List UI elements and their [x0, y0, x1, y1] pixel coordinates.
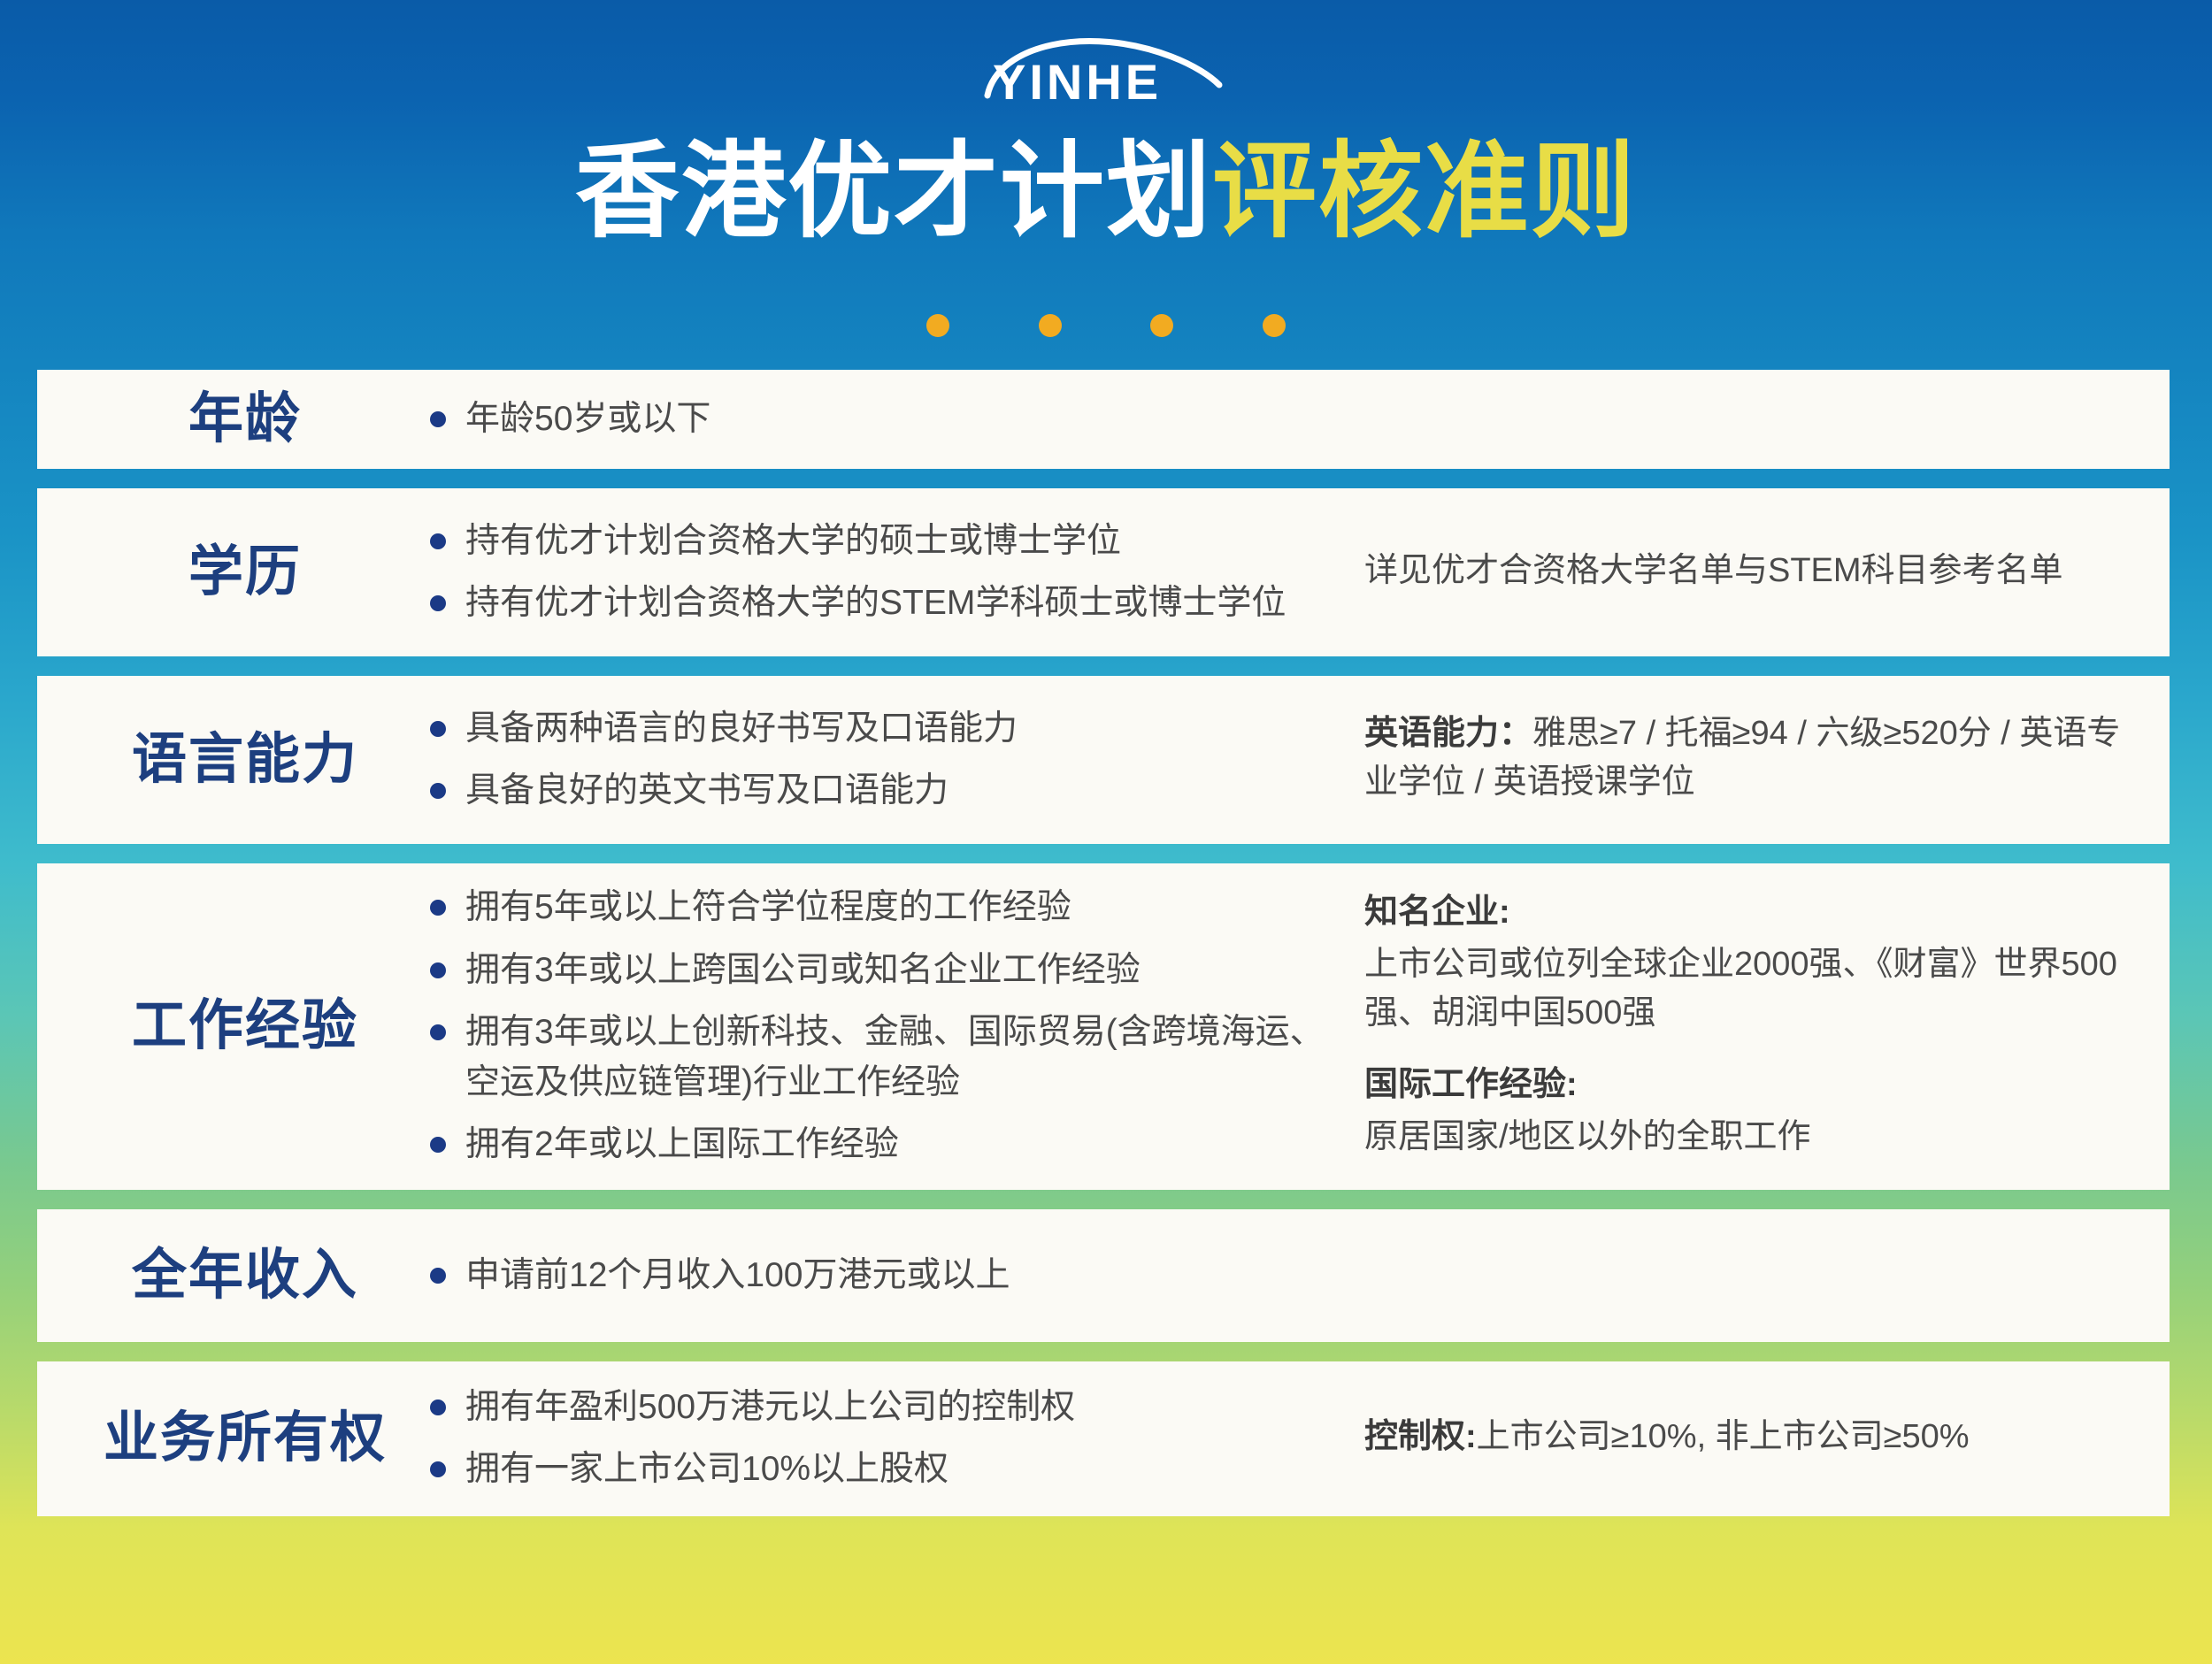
bullet-item: 拥有3年或以上创新科技、金融、国际贸易(含跨境海运、空运及供应链管理)行业工作经…	[426, 1008, 1347, 1108]
bullet-item: 持有优才计划合资格大学的硕士或博士学位	[426, 517, 1347, 567]
title-dot	[1039, 314, 1062, 337]
note-heading: 国际工作经验:	[1364, 1061, 2134, 1109]
category-label: 全年收入	[37, 1246, 426, 1306]
criteria-row-annual-income: 全年收入 申请前12个月收入100万港元或以上	[37, 1209, 2170, 1342]
page-title: 香港优才计划评核准则	[0, 133, 2212, 253]
header: YINHE 香港优才计划评核准则	[0, 0, 2212, 354]
criteria-row-language: 语言能力 具备两种语言的良好书写及口语能力 具备良好的英文书写及口语能力 英语能…	[37, 676, 2170, 844]
category-label: 学历	[37, 542, 426, 602]
note-column: 控制权:上市公司≥10%, 非上市公司≥50%	[1364, 1413, 2170, 1465]
bullet-list: 拥有5年或以上符合学位程度的工作经验 拥有3年或以上跨国公司或知名企业工作经验 …	[426, 883, 1364, 1170]
note-text: 英语能力：雅思≥7 / 托福≥94 / 六级≥520分 / 英语专业学位 / 英…	[1364, 709, 2134, 807]
note-heading: 控制权:	[1364, 1418, 1477, 1455]
title-dot-row	[0, 314, 2212, 337]
note-column: 知名企业: 上市公司或位列全球企业2000强、《财富》世界500强、胡润中国50…	[1364, 888, 2170, 1165]
title-dot	[1263, 314, 1286, 337]
svg-text:YINHE: YINHE	[993, 54, 1162, 101]
bullet-list: 年龄50岁或以下	[426, 395, 1364, 445]
page-title-primary: 香港优才计划	[575, 134, 1212, 250]
note-column: 详见优才合资格大学名单与STEM科目参考名单	[1364, 547, 2170, 599]
bullet-item: 拥有年盈利500万港元以上公司的控制权	[426, 1383, 1347, 1433]
bullet-list: 具备两种语言的良好书写及口语能力 具备良好的英文书写及口语能力	[426, 704, 1364, 817]
bullet-item: 拥有3年或以上跨国公司或知名企业工作经验	[426, 946, 1347, 996]
bullet-list: 持有优才计划合资格大学的硕士或博士学位 持有优才计划合资格大学的STEM学科硕士…	[426, 517, 1364, 629]
criteria-card-list: 年龄 年龄50岁或以下 学历 持有优才计划合资格大学的硕士或博士学位 持有优才计…	[37, 370, 2170, 1536]
note-heading: 英语能力：	[1364, 715, 1532, 752]
yinhe-logo: YINHE	[982, 30, 1239, 101]
title-dot	[926, 314, 949, 337]
bullet-item: 拥有2年或以上国际工作经验	[426, 1120, 1347, 1170]
bullet-item: 具备两种语言的良好书写及口语能力	[426, 704, 1347, 755]
note-column: 英语能力：雅思≥7 / 托福≥94 / 六级≥520分 / 英语专业学位 / 英…	[1364, 709, 2170, 810]
note-text: 详见优才合资格大学名单与STEM科目参考名单	[1364, 547, 2134, 595]
note-body: 上市公司≥10%, 非上市公司≥50%	[1477, 1418, 1970, 1455]
category-label: 年龄	[37, 389, 426, 449]
infographic-page: YINHE 香港优才计划评核准则 年龄 年龄50岁或以下 学历 持有优才计划合资…	[0, 0, 2212, 1664]
criteria-row-business-ownership: 业务所有权 拥有年盈利500万港元以上公司的控制权 拥有一家上市公司10%以上股…	[37, 1361, 2170, 1516]
category-label: 业务所有权	[37, 1408, 426, 1468]
bullet-item: 年龄50岁或以下	[426, 395, 1347, 445]
note-body: 原居国家/地区以外的全职工作	[1364, 1113, 2134, 1162]
page-title-accent: 评核准则	[1212, 134, 1637, 250]
criteria-row-age: 年龄 年龄50岁或以下	[37, 370, 2170, 469]
category-label: 工作经验	[37, 996, 426, 1056]
bullet-item: 拥有一家上市公司10%以上股权	[426, 1445, 1347, 1495]
note-heading: 知名企业:	[1364, 888, 2134, 937]
note-body: 上市公司或位列全球企业2000强、《财富》世界500强、胡润中国500强	[1364, 940, 2134, 1038]
bullet-item: 拥有5年或以上符合学位程度的工作经验	[426, 883, 1347, 933]
bullet-list: 申请前12个月收入100万港元或以上	[426, 1251, 1364, 1301]
bullet-item: 申请前12个月收入100万港元或以上	[426, 1251, 1347, 1301]
category-label: 语言能力	[37, 730, 426, 790]
title-dot	[1150, 314, 1173, 337]
note-text: 控制权:上市公司≥10%, 非上市公司≥50%	[1364, 1413, 2134, 1461]
criteria-row-work-experience: 工作经验 拥有5年或以上符合学位程度的工作经验 拥有3年或以上跨国公司或知名企业…	[37, 863, 2170, 1190]
bullet-list: 拥有年盈利500万港元以上公司的控制权 拥有一家上市公司10%以上股权	[426, 1383, 1364, 1495]
criteria-row-education: 学历 持有优才计划合资格大学的硕士或博士学位 持有优才计划合资格大学的STEM学…	[37, 488, 2170, 656]
bullet-item: 具备良好的英文书写及口语能力	[426, 766, 1347, 817]
bullet-item: 持有优才计划合资格大学的STEM学科硕士或博士学位	[426, 579, 1347, 629]
